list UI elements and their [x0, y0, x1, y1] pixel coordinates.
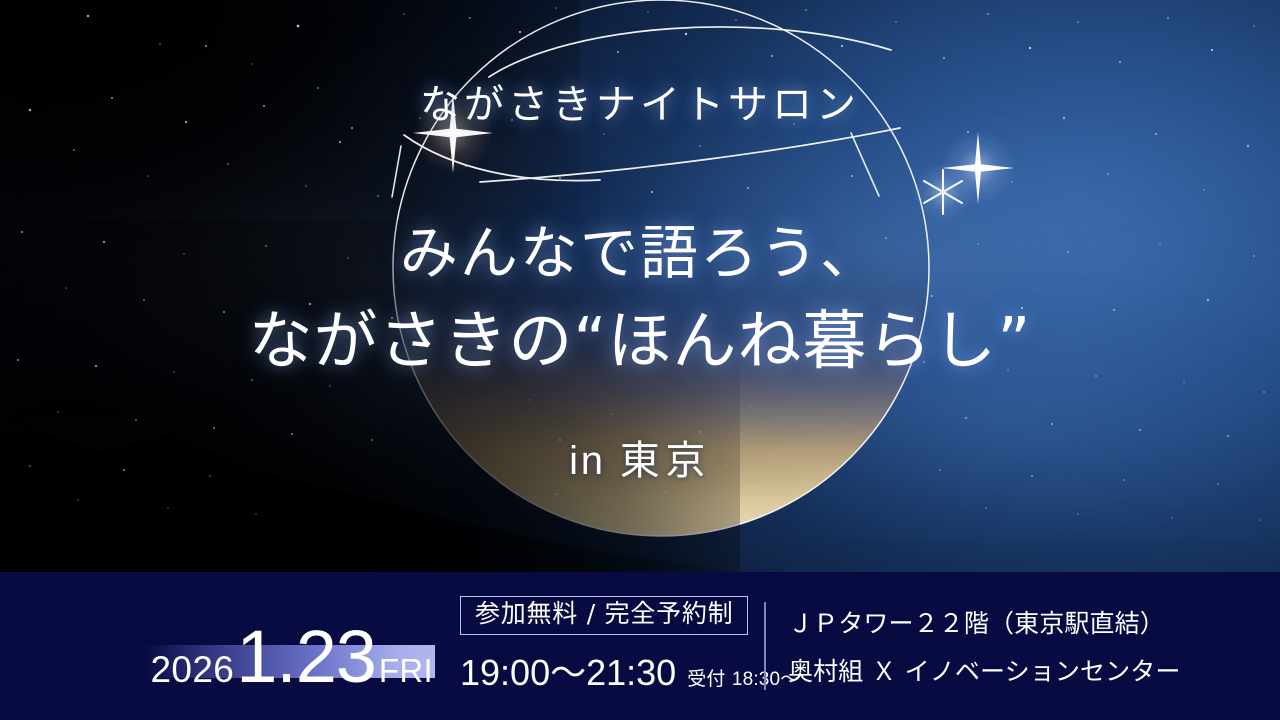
headline-line-2: ながさきの“ほんね暮らし” [0, 290, 1280, 382]
event-poster: ながさきナイトサロン みんなで語ろう、 ながさきの“ほんね暮らし” in 東京 … [0, 0, 1280, 720]
fee-reservation-badge: 参加無料 / 完全予約制 [460, 596, 748, 635]
event-venue-block: ＪＰタワー２２階（東京駅直結） 奥村組 Ｘ イノベーションセンター [766, 572, 1280, 720]
date-weekday: FRI [379, 652, 433, 690]
event-info-bar: 2026 1.23 FRI 参加無料 / 完全予約制 19:00〜21:30 受… [0, 572, 1280, 720]
event-date-block: 2026 1.23 FRI [0, 572, 447, 720]
event-time-block: 参加無料 / 完全予約制 19:00〜21:30 受付 18:30〜 [447, 572, 764, 720]
event-date: 2026 1.23 FRI [150, 622, 433, 692]
venue-line-1: ＪＰタワー２２階（東京駅直結） [788, 604, 1165, 640]
event-kicker: ながさきナイトサロン [0, 72, 1280, 130]
date-day: 1.23 [236, 622, 376, 692]
location-city: 東京 [620, 438, 711, 484]
location-prefix: in [569, 439, 606, 483]
ribbon-curve-lower-left [404, 135, 600, 181]
date-year: 2026 [150, 649, 234, 691]
reception-label: 受付 [687, 668, 732, 690]
headline-line-1: みんなで語ろう、 [0, 206, 1280, 290]
ribbon-curve-lower-right [480, 128, 900, 182]
event-time-main: 19:00〜21:30 [460, 644, 676, 696]
event-location: in 東京 [0, 428, 1280, 486]
venue-line-2: 奥村組 Ｘ イノベーションセンター [788, 652, 1181, 688]
ribbon-curve-top [489, 27, 891, 77]
ribbon-tail-right [851, 133, 879, 196]
ribbon-tail-left [392, 146, 401, 197]
event-time-row: 19:00〜21:30 受付 18:30〜 [460, 644, 800, 696]
